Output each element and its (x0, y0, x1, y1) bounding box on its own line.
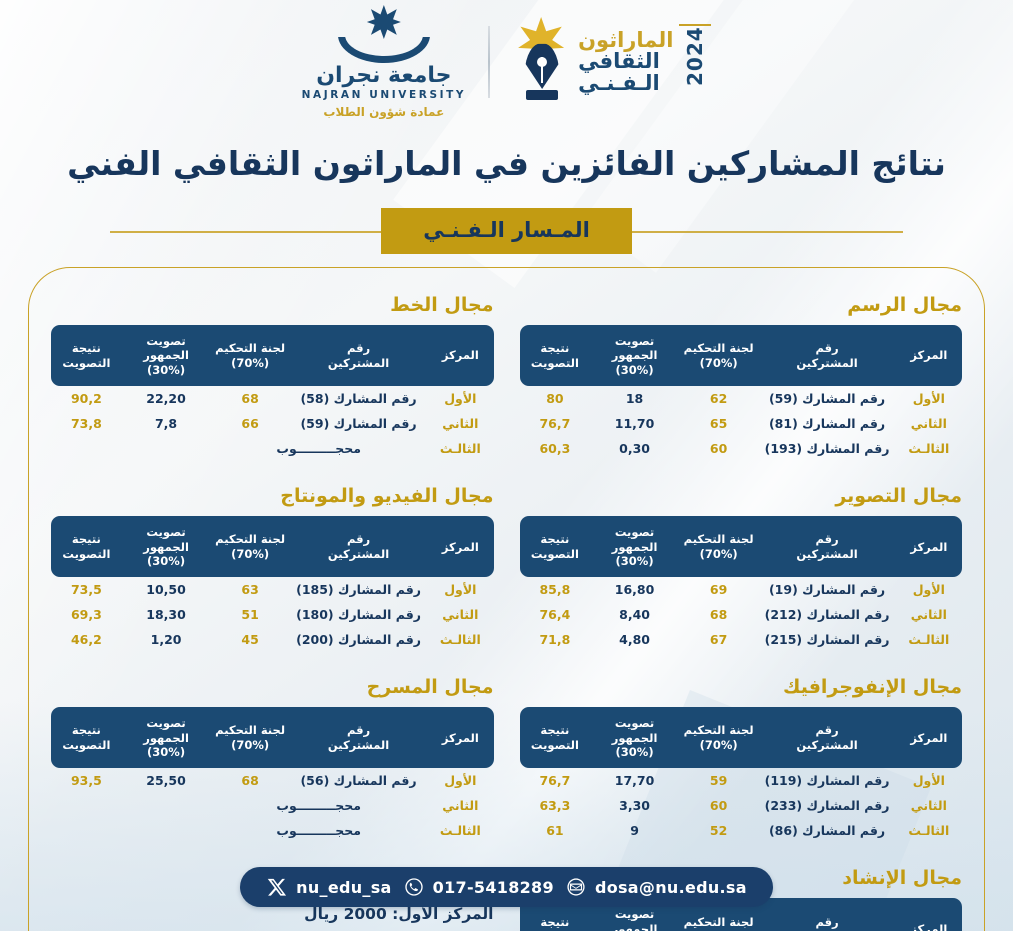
cell-rank: الثالـث (896, 627, 962, 652)
marathon-year-label: 2024 (679, 24, 711, 100)
table-row: الثالـثرقم المشارك (215)674,8071,8 (520, 627, 963, 652)
column-header-entrant: رقمالمشتركين (290, 707, 427, 768)
cell-total-empty (51, 818, 122, 843)
table-row: الثالـثمحجـــــــــوب (51, 436, 494, 461)
table-row: الأولرقم المشارك (56)6825,5093,5 (51, 768, 494, 793)
cell-judge: 60 (679, 436, 759, 461)
cell-entrant: رقم المشارك (119) (758, 768, 895, 793)
column-header-rank: المركز (427, 325, 493, 386)
cell-total: 63,3 (520, 793, 591, 818)
cell-rank: الثالـث (427, 818, 493, 843)
x-twitter-icon (266, 876, 288, 898)
logo-bar: 2024 الماراثون الثقافي الـفـنـي جامعة نج… (0, 0, 1013, 112)
section-title-infographic: مجال الإنفوجرافيك (520, 676, 963, 698)
cell-public: 7,8 (122, 411, 211, 436)
cell-judge: 60 (679, 793, 759, 818)
cell-public: 1,20 (122, 627, 211, 652)
results-card: مجال الرسمالمركزرقمالمشتركينلجنة التحكيم… (28, 267, 985, 931)
cell-total-empty (51, 436, 122, 461)
cell-judge: 68 (210, 386, 290, 411)
section-photography: مجال التصويرالمركزرقمالمشتركينلجنة التحك… (520, 485, 963, 652)
email-icon (565, 876, 587, 898)
table-row: الأولرقم المشارك (119)5917,7076,7 (520, 768, 963, 793)
cell-entrant: رقم المشارك (185) (290, 577, 427, 602)
cell-withheld: محجـــــــــوب (210, 436, 427, 461)
results-grid: مجال الرسمالمركزرقمالمشتركينلجنة التحكيم… (51, 294, 962, 931)
table-row: الأولرقم المشارك (58)6822,2090,2 (51, 386, 494, 411)
cell-judge: 67 (679, 627, 759, 652)
cell-entrant: رقم المشارك (81) (758, 411, 895, 436)
cell-judge: 62 (679, 386, 759, 411)
cell-entrant: رقم المشارك (212) (758, 602, 895, 627)
contact-pill: nu_edu_sa017-5418289dosa@nu.edu.sa (240, 867, 773, 907)
cell-judge: 45 (210, 627, 290, 652)
cell-total: 85,8 (520, 577, 591, 602)
cell-entrant: رقم المشارك (58) (290, 386, 427, 411)
table-row: الثالـثرقم المشارك (200)451,2046,2 (51, 627, 494, 652)
cell-entrant: رقم المشارك (193) (758, 436, 895, 461)
results-table-infographic: المركزرقمالمشتركينلجنة التحكيم(70%)تصويت… (520, 707, 963, 843)
cell-rank: الأول (427, 768, 493, 793)
column-header-total: نتيجةالتصويت (520, 707, 591, 768)
marathon-wordmark-line1: الماراثون (578, 30, 673, 51)
logo-divider (488, 26, 490, 98)
cell-rank: الثالـث (427, 436, 493, 461)
cell-rank: الثاني (427, 602, 493, 627)
contact-text: dosa@nu.edu.sa (595, 878, 747, 897)
table-row: الأولرقم المشارك (185)6310,5073,5 (51, 577, 494, 602)
column-header-public: تصويت الجمهور(30%) (122, 325, 211, 386)
cell-entrant: رقم المشارك (200) (290, 627, 427, 652)
contact-item[interactable]: dosa@nu.edu.sa (565, 876, 747, 898)
cell-entrant: رقم المشارك (233) (758, 793, 895, 818)
column-header-total: نتيجةالتصويت (51, 325, 122, 386)
table-row: الثالـثرقم المشارك (86)52961 (520, 818, 963, 843)
cell-total: 60,3 (520, 436, 591, 461)
section-title-video-montage: مجال الفيديو والمونتاج (51, 485, 494, 507)
cell-public: 16,80 (590, 577, 679, 602)
university-arabic-name: جامعة نجران (316, 65, 451, 87)
cell-total: 61 (520, 818, 591, 843)
cell-public: 8,40 (590, 602, 679, 627)
cell-judge: 68 (210, 768, 290, 793)
table-row: الأولرقم المشارك (59)621880 (520, 386, 963, 411)
column-header-public: تصويت الجمهور(30%) (590, 707, 679, 768)
column-header-rank: المركز (896, 325, 962, 386)
cell-public: 10,50 (122, 577, 211, 602)
phone-icon (403, 876, 425, 898)
prize-line-2: المركز الثاني: 1500 ريال (55, 927, 494, 931)
table-header-row: المركزرقمالمشتركينلجنة التحكيم(70%)تصويت… (520, 516, 963, 577)
table-header-row: المركزرقمالمشتركينلجنة التحكيم(70%)تصويت… (520, 707, 963, 768)
cell-public-empty (122, 436, 211, 461)
section-title-calligraphy: مجال الخط (51, 294, 494, 316)
column-header-rank: المركز (427, 516, 493, 577)
cell-public: 18 (590, 386, 679, 411)
cell-rank: الأول (896, 768, 962, 793)
cell-entrant: رقم المشارك (59) (758, 386, 895, 411)
column-header-entrant: رقمالمشتركين (290, 516, 427, 577)
cell-entrant: رقم المشارك (180) (290, 602, 427, 627)
university-english-name: NAJRAN UNIVERSITY (302, 89, 467, 103)
pen-nib-star-icon (512, 17, 572, 107)
column-header-judge: لجنة التحكيم(70%) (679, 707, 759, 768)
cell-rank: الثاني (896, 411, 962, 436)
column-header-judge: لجنة التحكيم(70%) (210, 707, 290, 768)
contact-text: 017-5418289 (433, 878, 554, 897)
section-drawing: مجال الرسمالمركزرقمالمشتركينلجنة التحكيم… (520, 294, 963, 461)
cell-rank: الثاني (896, 602, 962, 627)
cell-entrant: رقم المشارك (59) (290, 411, 427, 436)
marathon-wordmark-line2: الثقافي (578, 51, 660, 72)
section-video-montage: مجال الفيديو والمونتاجالمركزرقمالمشتركين… (51, 485, 494, 652)
column-header-total: نتيجةالتصويت (51, 707, 122, 768)
section-infographic: مجال الإنفوجرافيكالمركزرقمالمشتركينلجنة … (520, 676, 963, 843)
results-column-left: مجال الخطالمركزرقمالمشتركينلجنة التحكيم(… (51, 294, 494, 931)
section-calligraphy: مجال الخطالمركزرقمالمشتركينلجنة التحكيم(… (51, 294, 494, 461)
cell-judge: 66 (210, 411, 290, 436)
column-header-judge: لجنة التحكيم(70%) (210, 516, 290, 577)
table-row: الأولرقم المشارك (19)6916,8085,8 (520, 577, 963, 602)
cell-withheld: محجـــــــــوب (210, 818, 427, 843)
cell-judge: 51 (210, 602, 290, 627)
cell-total: 76,4 (520, 602, 591, 627)
results-table-photography: المركزرقمالمشتركينلجنة التحكيم(70%)تصويت… (520, 516, 963, 652)
section-title-photography: مجال التصوير (520, 485, 963, 507)
cell-public: 9 (590, 818, 679, 843)
table-row: الثانيرقم المشارك (81)6511,7076,7 (520, 411, 963, 436)
cell-public: 4,80 (590, 627, 679, 652)
cell-judge: 69 (679, 577, 759, 602)
table-row: الثانيرقم المشارك (59)667,873,8 (51, 411, 494, 436)
cell-total: 73,8 (51, 411, 122, 436)
column-header-judge: لجنة التحكيم(70%) (679, 325, 759, 386)
footer-bar: nu_edu_sa017-5418289dosa@nu.edu.sa (0, 867, 1013, 907)
cell-rank: الأول (896, 577, 962, 602)
cell-total: 73,5 (51, 577, 122, 602)
cell-public: 25,50 (122, 768, 211, 793)
table-row: الثانيرقم المشارك (180)5118,3069,3 (51, 602, 494, 627)
table-row: الثانيرقم المشارك (233)603,3063,3 (520, 793, 963, 818)
column-header-entrant: رقمالمشتركين (758, 516, 895, 577)
cell-judge: 65 (679, 411, 759, 436)
cell-rank: الأول (427, 386, 493, 411)
contact-text: nu_edu_sa (296, 878, 392, 897)
contact-item[interactable]: nu_edu_sa (266, 876, 392, 898)
cell-rank: الثالـث (896, 436, 962, 461)
pen-nib-slit (541, 57, 543, 83)
pen-base (526, 90, 558, 100)
column-header-total: نتيجةالتصويت (520, 516, 591, 577)
marathon-wordmark: الماراثون الثقافي الـفـنـي (578, 30, 673, 94)
column-header-judge: لجنة التحكيم(70%) (679, 516, 759, 577)
table-row: الثانيمحجـــــــــوب (51, 793, 494, 818)
najran-university-burst-icon (367, 5, 401, 39)
track-badge: المـسار الـفـنـي (381, 208, 632, 253)
results-column-right: مجال الرسمالمركزرقمالمشتركينلجنة التحكيم… (520, 294, 963, 931)
cell-judge: 63 (210, 577, 290, 602)
cell-public: 3,30 (590, 793, 679, 818)
cell-total: 46,2 (51, 627, 122, 652)
page-title: نتائج المشاركين الفائزين في الماراثون ال… (0, 144, 1013, 183)
najran-university-swoosh-icon (336, 37, 432, 63)
column-header-total: نتيجةالتصويت (520, 325, 591, 386)
cell-judge: 68 (679, 602, 759, 627)
table-header-row: المركزرقمالمشتركينلجنة التحكيم(70%)تصويت… (51, 707, 494, 768)
cell-public: 17,70 (590, 768, 679, 793)
cell-entrant: رقم المشارك (86) (758, 818, 895, 843)
cell-public-empty (122, 793, 211, 818)
najran-university-logo: جامعة نجران NAJRAN UNIVERSITY عمادة شؤون… (302, 5, 467, 119)
results-table-calligraphy: المركزرقمالمشتركينلجنة التحكيم(70%)تصويت… (51, 325, 494, 461)
cell-total: 69,3 (51, 602, 122, 627)
marathon-logo: 2024 الماراثون الثقافي الـفـنـي (512, 16, 711, 108)
cell-total: 76,7 (520, 768, 591, 793)
cell-total: 90,2 (51, 386, 122, 411)
poster-page: 2024 الماراثون الثقافي الـفـنـي جامعة نج… (0, 0, 1013, 931)
cell-public: 11,70 (590, 411, 679, 436)
cell-total: 76,7 (520, 411, 591, 436)
cell-rank: الأول (896, 386, 962, 411)
cell-public: 18,30 (122, 602, 211, 627)
cell-public: 0,30 (590, 436, 679, 461)
results-table-theatre: المركزرقمالمشتركينلجنة التحكيم(70%)تصويت… (51, 707, 494, 843)
results-table-drawing: المركزرقمالمشتركينلجنة التحكيم(70%)تصويت… (520, 325, 963, 461)
track-badge-row: المـسار الـفـنـي (0, 201, 1013, 261)
section-theatre: مجال المسرحالمركزرقمالمشتركينلجنة التحكي… (51, 676, 494, 843)
cell-withheld: محجـــــــــوب (210, 793, 427, 818)
column-header-public: تصويت الجمهور(30%) (122, 707, 211, 768)
cell-total: 93,5 (51, 768, 122, 793)
cell-judge: 52 (679, 818, 759, 843)
column-header-public: تصويت الجمهور(30%) (590, 516, 679, 577)
table-row: الثانيرقم المشارك (212)688,4076,4 (520, 602, 963, 627)
cell-entrant: رقم المشارك (19) (758, 577, 895, 602)
table-row: الثالـثرقم المشارك (193)600,3060,3 (520, 436, 963, 461)
cell-total: 71,8 (520, 627, 591, 652)
cell-rank: الأول (427, 577, 493, 602)
table-header-row: المركزرقمالمشتركينلجنة التحكيم(70%)تصويت… (520, 325, 963, 386)
column-header-total: نتيجةالتصويت (51, 516, 122, 577)
column-header-judge: لجنة التحكيم(70%) (210, 325, 290, 386)
results-table-video-montage: المركزرقمالمشتركينلجنة التحكيم(70%)تصويت… (51, 516, 494, 652)
cell-entrant: رقم المشارك (56) (290, 768, 427, 793)
table-row: الثالـثمحجـــــــــوب (51, 818, 494, 843)
cell-public-empty (122, 818, 211, 843)
cell-rank: الثاني (427, 793, 493, 818)
table-header-row: المركزرقمالمشتركينلجنة التحكيم(70%)تصويت… (51, 325, 494, 386)
column-header-public: تصويت الجمهور(30%) (122, 516, 211, 577)
column-header-entrant: رقمالمشتركين (758, 707, 895, 768)
column-header-entrant: رقمالمشتركين (758, 325, 895, 386)
column-header-rank: المركز (427, 707, 493, 768)
cell-judge: 59 (679, 768, 759, 793)
cell-rank: الثالـث (427, 627, 493, 652)
cell-public: 22,20 (122, 386, 211, 411)
contact-item[interactable]: 017-5418289 (403, 876, 554, 898)
cell-entrant: رقم المشارك (215) (758, 627, 895, 652)
column-header-public: تصويت الجمهور(30%) (590, 325, 679, 386)
column-header-rank: المركز (896, 516, 962, 577)
university-department-name: عمادة شؤون الطلاب (323, 105, 444, 119)
cell-total: 80 (520, 386, 591, 411)
cell-rank: الثاني (427, 411, 493, 436)
column-header-rank: المركز (896, 707, 962, 768)
table-header-row: المركزرقمالمشتركينلجنة التحكيم(70%)تصويت… (51, 516, 494, 577)
cell-rank: الثالـث (896, 818, 962, 843)
cell-total-empty (51, 793, 122, 818)
section-title-drawing: مجال الرسم (520, 294, 963, 316)
cell-rank: الثاني (896, 793, 962, 818)
section-title-theatre: مجال المسرح (51, 676, 494, 698)
marathon-wordmark-line3: الـفـنـي (578, 73, 660, 94)
column-header-entrant: رقمالمشتركين (290, 325, 427, 386)
